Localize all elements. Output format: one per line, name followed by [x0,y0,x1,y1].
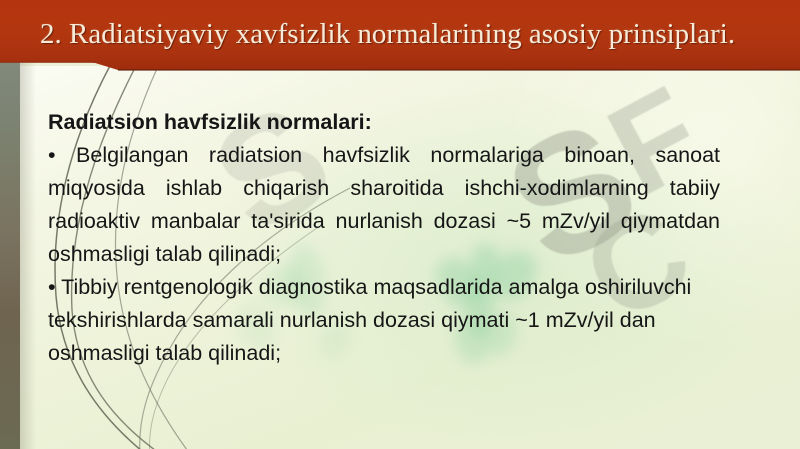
header-notch-highlight [0,61,96,63]
slide-body: Radiatsion havfsizlik normalari: • Belgi… [48,106,720,370]
body-bullet-2: • Tibbiy rentgenologik diagnostika maqsa… [48,271,720,370]
body-bullet-1: • Belgilangan radiatsion havfsizlik norm… [48,139,720,271]
header-underline [118,69,800,71]
page-title: 2. Radiatsiyaviy xavfsizlik normalarinin… [40,15,780,53]
slide-root: S F C S 2. Radiatsiyaviy xavfsizlik norm… [0,0,800,449]
slide-header: 2. Radiatsiyaviy xavfsizlik normalarinin… [0,0,800,70]
body-heading: Radiatsion havfsizlik normalari: [48,106,720,139]
